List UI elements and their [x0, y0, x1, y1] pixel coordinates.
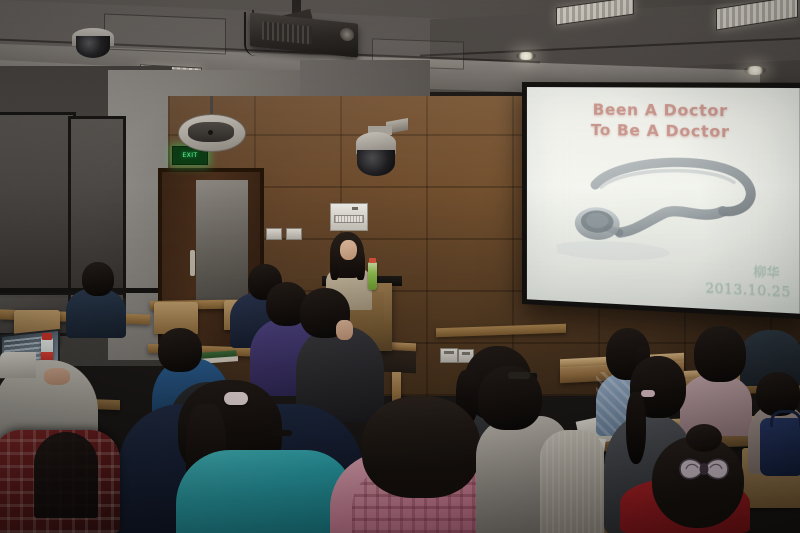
projection-screen-surface: Been A Doctor To Be A Doctor — [527, 87, 800, 314]
door-handle[interactable] — [190, 250, 195, 276]
slide-presenter-name: 柳华 — [753, 262, 779, 281]
audience-head — [694, 326, 746, 382]
wall-switch[interactable] — [266, 228, 282, 240]
ceiling-downlight — [744, 66, 766, 75]
slide-title-line1: Been A Doctor — [593, 100, 728, 120]
speaker-rod — [210, 96, 213, 116]
audience-head — [158, 328, 202, 372]
hair-tie — [224, 392, 248, 405]
shoulder — [0, 352, 36, 378]
hand — [336, 320, 353, 340]
slide-date: 2013.10.25 — [705, 281, 791, 301]
dome-camera-icon — [76, 36, 110, 58]
glasses-icon — [508, 372, 530, 379]
projection-screen: Been A Doctor To Be A Doctor — [522, 82, 800, 319]
ptz-camera-lens — [357, 150, 395, 176]
wall-outlet[interactable] — [440, 348, 458, 363]
bag-handle — [770, 410, 800, 427]
hand — [44, 368, 70, 385]
ceiling-hatch — [104, 13, 226, 54]
bow-hairclip-icon — [676, 452, 732, 486]
wall-panel-led — [352, 207, 358, 210]
speaker-center-dot — [208, 130, 213, 135]
audience-member — [176, 450, 354, 533]
glasses-icon — [272, 430, 292, 436]
presenter-hair-strand — [330, 246, 339, 280]
audience-head — [82, 262, 114, 296]
stethoscope-icon — [557, 150, 778, 271]
slide-title-line2: To Be A Doctor — [527, 119, 800, 144]
ponytail — [626, 392, 646, 464]
water-bottle-cap — [42, 333, 52, 340]
presenter-face — [340, 240, 357, 260]
audience-head — [362, 396, 480, 498]
wall-panel-grille — [334, 215, 364, 223]
window-pane — [0, 112, 76, 298]
drink-bottle — [368, 262, 377, 290]
wall-switch[interactable] — [286, 228, 302, 240]
door-window — [196, 180, 248, 300]
drink-bottle-cap — [369, 258, 376, 263]
ceiling-downlight — [516, 52, 536, 60]
knit-texture — [540, 430, 604, 533]
hair-bun — [686, 424, 722, 452]
presenter-hair-strand — [356, 248, 365, 280]
backpack-strap — [34, 432, 98, 518]
hair-tie — [641, 390, 655, 397]
slide-title: Been A Doctor To Be A Doctor — [527, 99, 800, 144]
lecture-hall-photo: EXIT Been A Doctor To Be A Doctor — [0, 0, 800, 533]
exit-sign-label: EXIT — [182, 152, 197, 159]
